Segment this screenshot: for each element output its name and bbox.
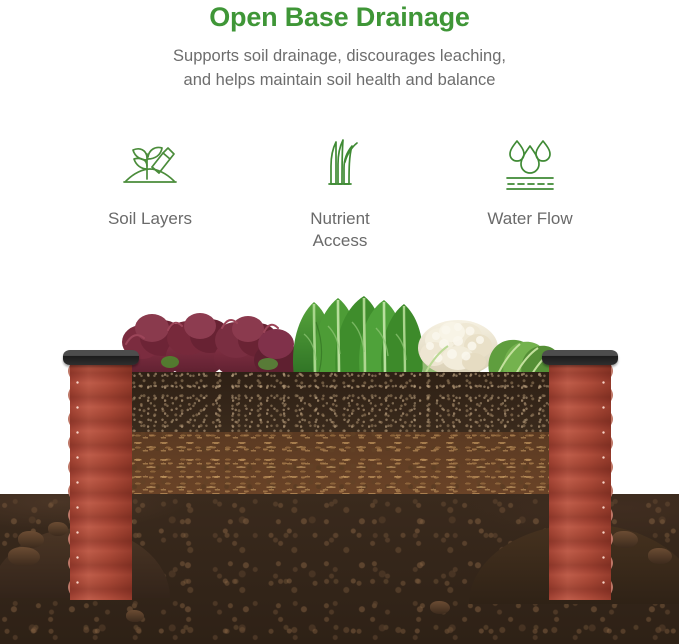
soil-layers-icon xyxy=(115,132,185,194)
plants-illustration xyxy=(118,284,566,376)
subtitle-line-1: Supports soil drainage, discourages leac… xyxy=(0,44,679,68)
page-subtitle: Supports soil drainage, discourages leac… xyxy=(0,44,679,92)
feature-label-water-flow: Water Flow xyxy=(487,208,572,230)
soil-clod xyxy=(430,601,450,614)
feature-label-nutrient-access: Nutrient Access xyxy=(310,208,370,252)
cauliflower-group xyxy=(418,320,561,376)
page-title: Open Base Drainage xyxy=(0,2,679,33)
feature-list: Soil Layers Nutrient Access xyxy=(60,132,620,252)
soil-layer-topsoil xyxy=(130,372,550,432)
soil-clod xyxy=(8,547,40,566)
subtitle-line-2: and helps maintain soil health and balan… xyxy=(0,68,679,92)
feature-item-water-flow: Water Flow xyxy=(440,132,620,230)
red-lettuce-group xyxy=(122,313,302,376)
planter-rim-left xyxy=(63,350,139,365)
planter-panel-right xyxy=(549,350,611,600)
feature-label-soil-layers: Soil Layers xyxy=(108,208,192,230)
bok-choy-group xyxy=(293,296,423,376)
panel-rivets-left xyxy=(76,370,79,590)
soil-clod xyxy=(648,548,672,564)
plant-row xyxy=(118,284,566,376)
planter-rim-right xyxy=(542,350,618,365)
soil-clod xyxy=(126,610,144,622)
product-scene xyxy=(0,278,679,644)
water-flow-icon xyxy=(495,132,565,194)
soil-clod xyxy=(18,531,44,548)
nutrient-access-icon xyxy=(305,132,375,194)
feature-item-nutrient-access: Nutrient Access xyxy=(250,132,430,252)
product-feature-image: Open Base Drainage Supports soil drainag… xyxy=(0,0,679,644)
soil-layer-mulch-bark xyxy=(130,432,550,494)
panel-rivets-right xyxy=(602,370,605,590)
planter-panel-left xyxy=(70,350,132,600)
feature-item-soil-layers: Soil Layers xyxy=(60,132,240,230)
panel-body-left xyxy=(70,359,132,600)
